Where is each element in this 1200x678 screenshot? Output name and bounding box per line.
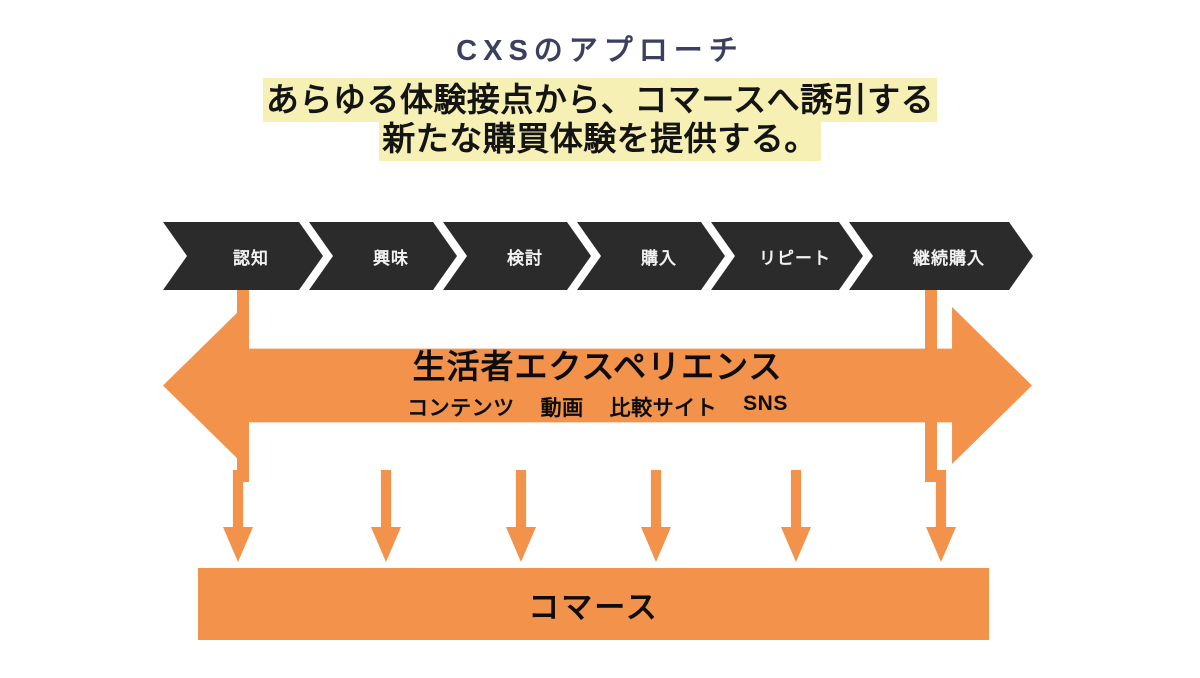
headline-line-2-text: 新たな購買体験を提供する。 bbox=[379, 117, 821, 161]
experience-double-arrow bbox=[163, 307, 1032, 464]
headline-line-1-text: あらゆる体験接点から、コマースへ誘引する bbox=[263, 78, 937, 122]
heading-block: CXSのアプローチ あらゆる体験接点から、コマースへ誘引する 新たな購買体験を提… bbox=[0, 34, 1200, 159]
diagram-canvas: CXSのアプローチ あらゆる体験接点から、コマースへ誘引する 新たな購買体験を提… bbox=[0, 0, 1200, 678]
flow-down-arrow-4 bbox=[641, 470, 671, 562]
headline-line-2: 新たな購買体験を提供する。 bbox=[0, 120, 1200, 159]
headline: あらゆる体験接点から、コマースへ誘引する 新たな購買体験を提供する。 bbox=[0, 81, 1200, 159]
journey-stage-label: 興味 bbox=[373, 244, 409, 269]
journey-stage-consideration[interactable]: 検討 bbox=[443, 222, 591, 290]
right-rail-upper bbox=[925, 290, 937, 352]
page-title: CXSのアプローチ bbox=[0, 34, 1200, 69]
flow-down-arrow-6 bbox=[926, 470, 956, 562]
flow-down-arrow-1 bbox=[223, 470, 253, 562]
journey-stage-purchase[interactable]: 購入 bbox=[577, 222, 725, 290]
journey-stage-label: 購入 bbox=[641, 244, 677, 269]
customer-journey-stages: 認知 興味 検討 購入 リピート 継続購入 bbox=[163, 222, 1033, 290]
journey-stage-interest[interactable]: 興味 bbox=[309, 222, 457, 290]
headline-line-1: あらゆる体験接点から、コマースへ誘引する bbox=[0, 81, 1200, 120]
flow-down-arrow-3 bbox=[506, 470, 536, 562]
right-rail-lower bbox=[925, 420, 937, 482]
journey-stage-label: リピート bbox=[759, 244, 831, 269]
journey-stage-continued-purchase[interactable]: 継続購入 bbox=[849, 222, 1033, 290]
journey-stage-label: 継続購入 bbox=[913, 244, 985, 269]
journey-stage-repeat[interactable]: リピート bbox=[711, 222, 863, 290]
flow-down-arrow-2 bbox=[371, 470, 401, 562]
journey-stage-awareness[interactable]: 認知 bbox=[163, 222, 323, 290]
journey-stage-label: 認知 bbox=[233, 244, 269, 269]
commerce-label: コマース bbox=[528, 582, 658, 627]
flow-down-arrow-5 bbox=[781, 470, 811, 562]
commerce-bar[interactable]: コマース bbox=[198, 568, 989, 640]
journey-stage-label: 検討 bbox=[507, 244, 543, 269]
